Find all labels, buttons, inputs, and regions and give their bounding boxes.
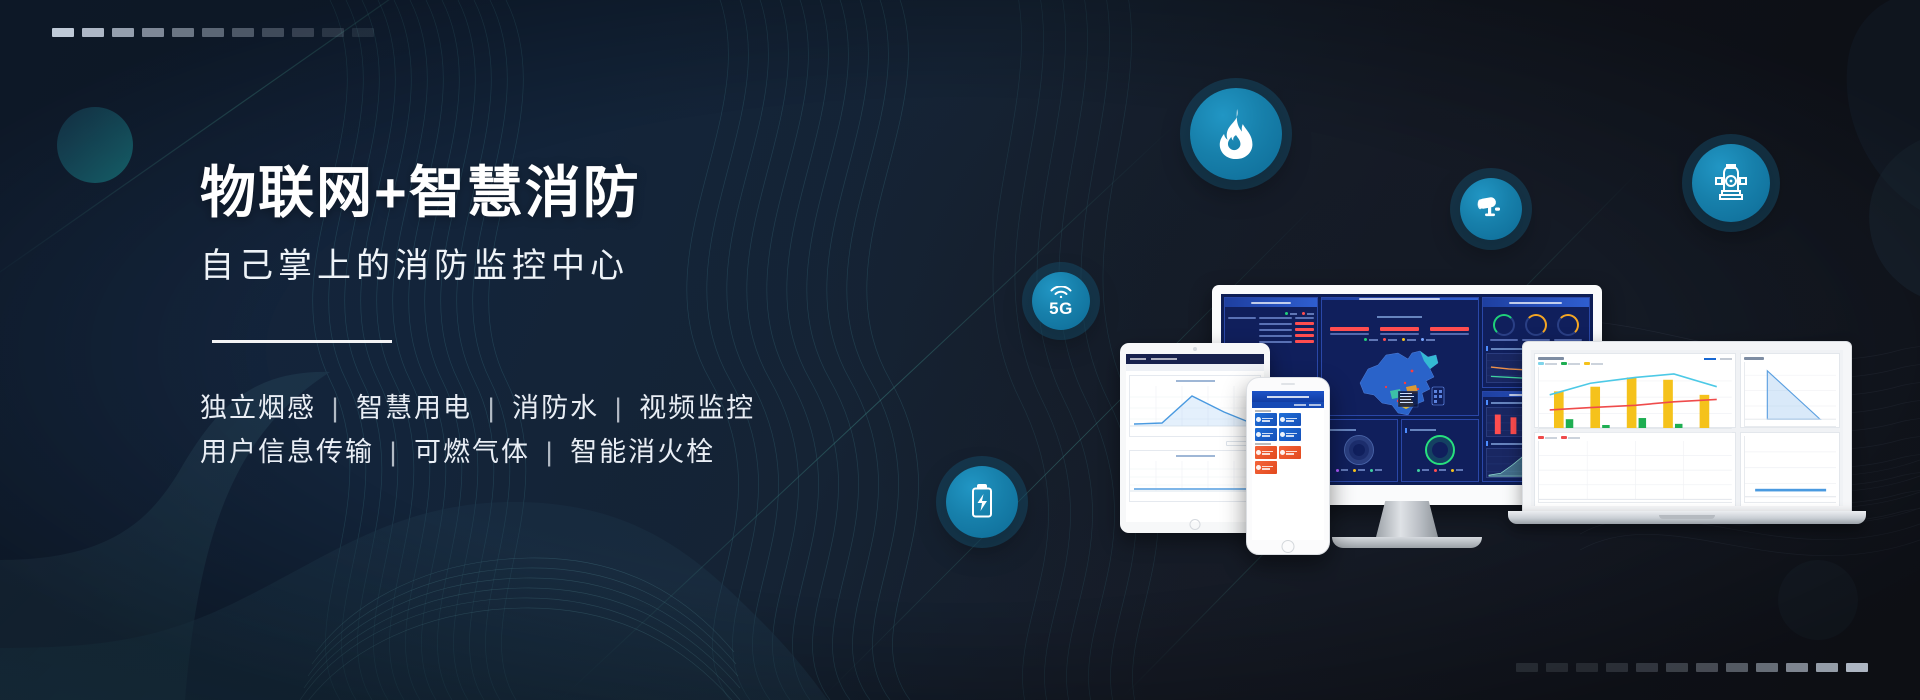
kpi [1430, 327, 1469, 335]
feature-list: 独立烟感 | 智慧用电 | 消防水 | 视频监控 用户信息传输 | 可燃气体 |… [200, 387, 980, 474]
card-header [1744, 357, 1836, 360]
dashboard-panel-overview-map [1321, 297, 1479, 416]
monitor-stand-foot [1332, 537, 1482, 548]
gauge-group [1486, 310, 1586, 343]
phone-tile[interactable] [1279, 428, 1301, 441]
hero-copy: 物联网+智慧消防 自己掌上的消防监控中心 独立烟感 | 智慧用电 | 消防水 |… [200, 160, 980, 475]
phone-tile[interactable] [1255, 413, 1277, 426]
divider [212, 340, 392, 343]
feature-separator: | [609, 393, 630, 423]
tablet-home-button[interactable] [1190, 519, 1201, 530]
tablet-subbar [1126, 364, 1264, 371]
phone-screen [1252, 391, 1324, 540]
feature-separator: | [482, 393, 503, 423]
legend-item [1538, 362, 1557, 365]
feature-line-1: 独立烟感 | 智慧用电 | 消防水 | 视频监控 [200, 387, 980, 431]
badge-fire[interactable] [1190, 88, 1282, 180]
legend-item [1402, 338, 1416, 341]
phone-tile[interactable] [1279, 413, 1301, 426]
panel-title-bar [1225, 298, 1317, 307]
card-tabs[interactable] [1704, 358, 1732, 360]
phone-tile-grid-blue [1252, 413, 1324, 441]
feature-item: 智慧用电 [356, 393, 472, 423]
tablet-navbar [1126, 354, 1264, 364]
legend-item [1285, 312, 1297, 315]
chart-legend [1538, 362, 1732, 365]
laptop-device [1522, 341, 1852, 541]
legend-item [1421, 338, 1435, 341]
radar-chart-green [1425, 435, 1455, 465]
feature-separator: | [326, 393, 347, 423]
side-chart-plot [1744, 436, 1836, 503]
kpi [1380, 327, 1419, 335]
laptop-trackpad-notch [1659, 515, 1715, 519]
feature-item: 消防水 [512, 393, 599, 423]
legend-item [1538, 436, 1557, 439]
table-grid [1538, 441, 1732, 503]
fire-hydrant-icon [1713, 163, 1749, 203]
kpi [1330, 327, 1369, 335]
phone-speaker [1281, 383, 1295, 385]
legend-item [1584, 362, 1603, 365]
mobile-phone [1246, 377, 1330, 555]
legend-item [1353, 469, 1365, 472]
badge-cctv-camera[interactable] [1460, 178, 1522, 240]
phone-app-header [1252, 391, 1324, 402]
feature-item: 独立烟感 [200, 393, 316, 423]
feature-item: 用户信息传输 [200, 437, 374, 467]
page-subtitle: 自己掌上的消防监控中心 [200, 244, 980, 288]
legend-item [1364, 338, 1378, 341]
laptop-table-card [1534, 432, 1736, 506]
page-title: 物联网+智慧消防 [200, 160, 980, 226]
legend-item [1383, 338, 1397, 341]
tablet-chart-card-2 [1129, 450, 1261, 502]
china-map [1350, 343, 1450, 416]
legend-item [1302, 312, 1314, 315]
monitor-stand-neck [1375, 501, 1439, 541]
badge-fire-hydrant[interactable] [1692, 144, 1770, 222]
phone-tile[interactable] [1279, 446, 1301, 459]
legend-item [1370, 469, 1382, 472]
combo-chart-plot [1538, 367, 1732, 433]
legend-item [1434, 469, 1446, 472]
tablet-trend-chart [1130, 386, 1260, 430]
decline-chart-plot [1744, 362, 1836, 427]
card-header [1538, 357, 1732, 360]
gauge [1522, 314, 1551, 341]
fire-icon [1214, 109, 1258, 159]
legend-item [1336, 469, 1348, 472]
feature-separator: | [540, 437, 561, 467]
hero-banner: 物联网+智慧消防 自己掌上的消防监控中心 独立烟感 | 智慧用电 | 消防水 |… [0, 0, 1920, 700]
legend-item [1561, 362, 1580, 365]
panel-title-bar [1483, 298, 1589, 307]
battery-charge-icon [968, 483, 996, 521]
phone-tile[interactable] [1255, 461, 1277, 474]
phone-tile-grid-orange [1252, 446, 1324, 474]
5g-label: 5G [1049, 300, 1073, 317]
decor-dashes-top-left [52, 28, 374, 37]
legend-item [1451, 469, 1463, 472]
decor-dashes-bottom-right [1516, 663, 1868, 672]
5g-signal-icon: 5G [1049, 286, 1073, 317]
map-legend [1325, 336, 1475, 343]
tablet-flat-chart [1130, 461, 1260, 495]
phone-tile[interactable] [1255, 446, 1277, 459]
feature-separator: | [384, 437, 405, 467]
dashboard-panel-radar-left [1321, 419, 1399, 482]
tablet-camera-dot [1193, 347, 1197, 351]
feature-item: 可燃气体 [414, 437, 530, 467]
laptop-screen [1531, 350, 1843, 506]
feature-line-2: 用户信息传输 | 可燃气体 | 智能消火栓 [200, 431, 980, 475]
radar-chart [1344, 435, 1374, 465]
legend-item [1561, 436, 1580, 439]
legend-item [1417, 469, 1429, 472]
gauge [1554, 314, 1583, 341]
badge-battery-charge[interactable] [946, 466, 1018, 538]
laptop-side-chart-card [1740, 432, 1840, 506]
tablet-chart-card [1129, 375, 1261, 437]
phone-tile[interactable] [1255, 428, 1277, 441]
badge-5g[interactable]: 5G [1032, 272, 1090, 330]
laptop-decline-chart-card [1740, 353, 1840, 428]
gauge [1490, 314, 1519, 341]
feature-item: 视频监控 [639, 393, 755, 423]
cctv-camera-icon [1475, 195, 1507, 223]
overview-kpis [1325, 324, 1475, 336]
dashboard-panel-radar-right [1401, 419, 1479, 482]
device-mockup-cluster [1120, 285, 1860, 575]
chart-legend [1538, 436, 1732, 439]
laptop-combo-chart-card [1534, 353, 1736, 428]
phone-home-button[interactable] [1282, 540, 1295, 553]
tablet-screen [1126, 354, 1264, 522]
feature-item: 智能消火栓 [570, 437, 715, 467]
